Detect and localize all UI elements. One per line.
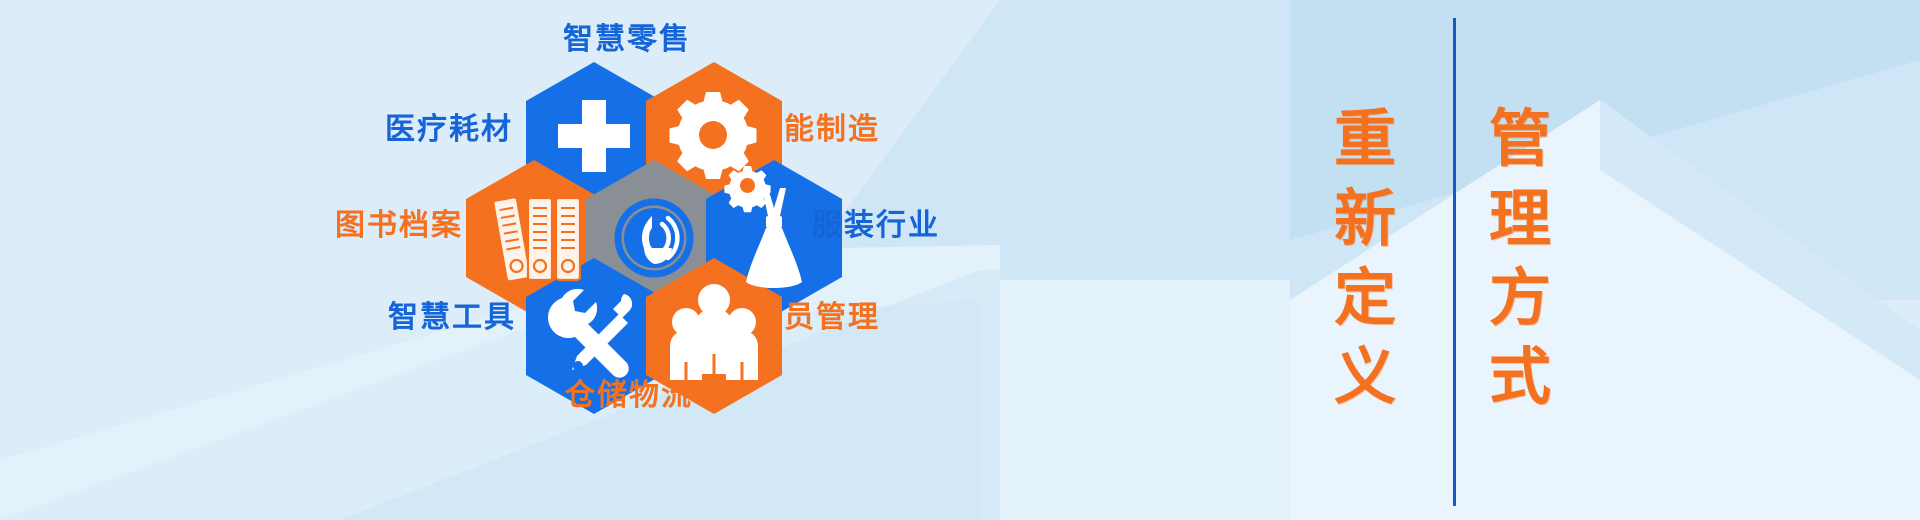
label-library-archives: 图书档案 bbox=[335, 200, 463, 244]
hexagon-cluster: 智慧零售 医疗耗材 智能制造 图书档案 服装行业 智慧工具 人员管理 仓储物流 bbox=[0, 0, 1250, 520]
calligraphy-char: 定 bbox=[1334, 260, 1396, 339]
label-smart-retail: 智慧零售 bbox=[563, 14, 691, 58]
calligraphy-char: 新 bbox=[1334, 181, 1396, 260]
hex-smart-tools[interactable] bbox=[526, 258, 662, 414]
wrench-screwdriver-icon bbox=[526, 258, 662, 414]
banner-stage: 智慧零售 医疗耗材 智能制造 图书档案 服装行业 智慧工具 人员管理 仓储物流 … bbox=[0, 0, 1920, 520]
calligraphy-char: 方 bbox=[1489, 260, 1551, 339]
calligraphy-char: 管 bbox=[1489, 101, 1551, 180]
calligraphy-left-column: 重 新 定 义 bbox=[1310, 0, 1420, 520]
calligraphy-char: 理 bbox=[1489, 181, 1551, 260]
label-medical-supplies: 医疗耗材 bbox=[385, 104, 513, 148]
calligraphy-char: 重 bbox=[1334, 101, 1396, 180]
people-group-icon bbox=[646, 258, 782, 414]
hex-personnel-management[interactable] bbox=[646, 258, 782, 414]
calligraphy-block: 重 新 定 义 管 理 方 式 bbox=[1290, 0, 1690, 520]
calligraphy-char: 式 bbox=[1489, 339, 1551, 418]
calligraphy-right-column: 管 理 方 式 bbox=[1465, 0, 1575, 520]
calligraphy-char: 义 bbox=[1334, 339, 1396, 418]
calligraphy-divider bbox=[1453, 18, 1456, 506]
